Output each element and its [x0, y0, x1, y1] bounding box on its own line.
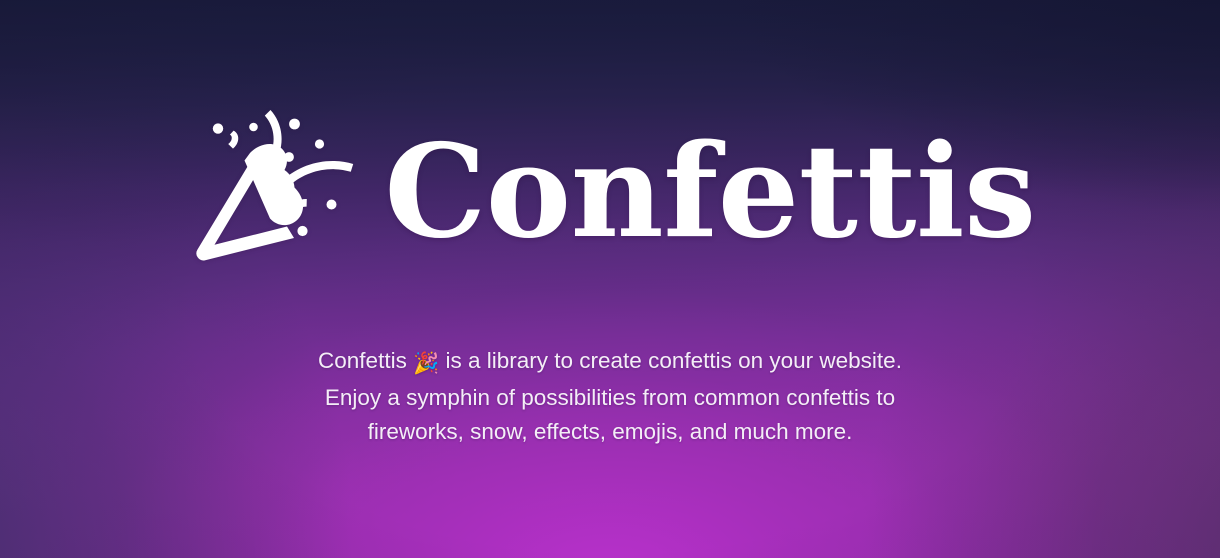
- tagline-line-3: fireworks, snow, effects, emojis, and mu…: [230, 415, 990, 450]
- brand-row: Confettis: [184, 98, 1035, 278]
- party-popper-emoji: 🎉: [413, 346, 439, 381]
- hero-tagline: Confettis 🎉 is a library to create confe…: [230, 344, 990, 450]
- party-popper-icon: [184, 108, 366, 268]
- tagline-line-2: Enjoy a symphin of possibilities from co…: [230, 381, 990, 416]
- hero-content: Confettis Confettis 🎉 is a library to cr…: [0, 0, 1220, 558]
- tagline-line-1-prefix: Confettis: [318, 348, 413, 373]
- tagline-line-1-suffix: is a library to create confettis on your…: [439, 348, 902, 373]
- page-title: Confettis: [384, 128, 1035, 256]
- hero-banner: Confettis Confettis 🎉 is a library to cr…: [0, 0, 1220, 558]
- tagline-line-1: Confettis 🎉 is a library to create confe…: [230, 344, 990, 381]
